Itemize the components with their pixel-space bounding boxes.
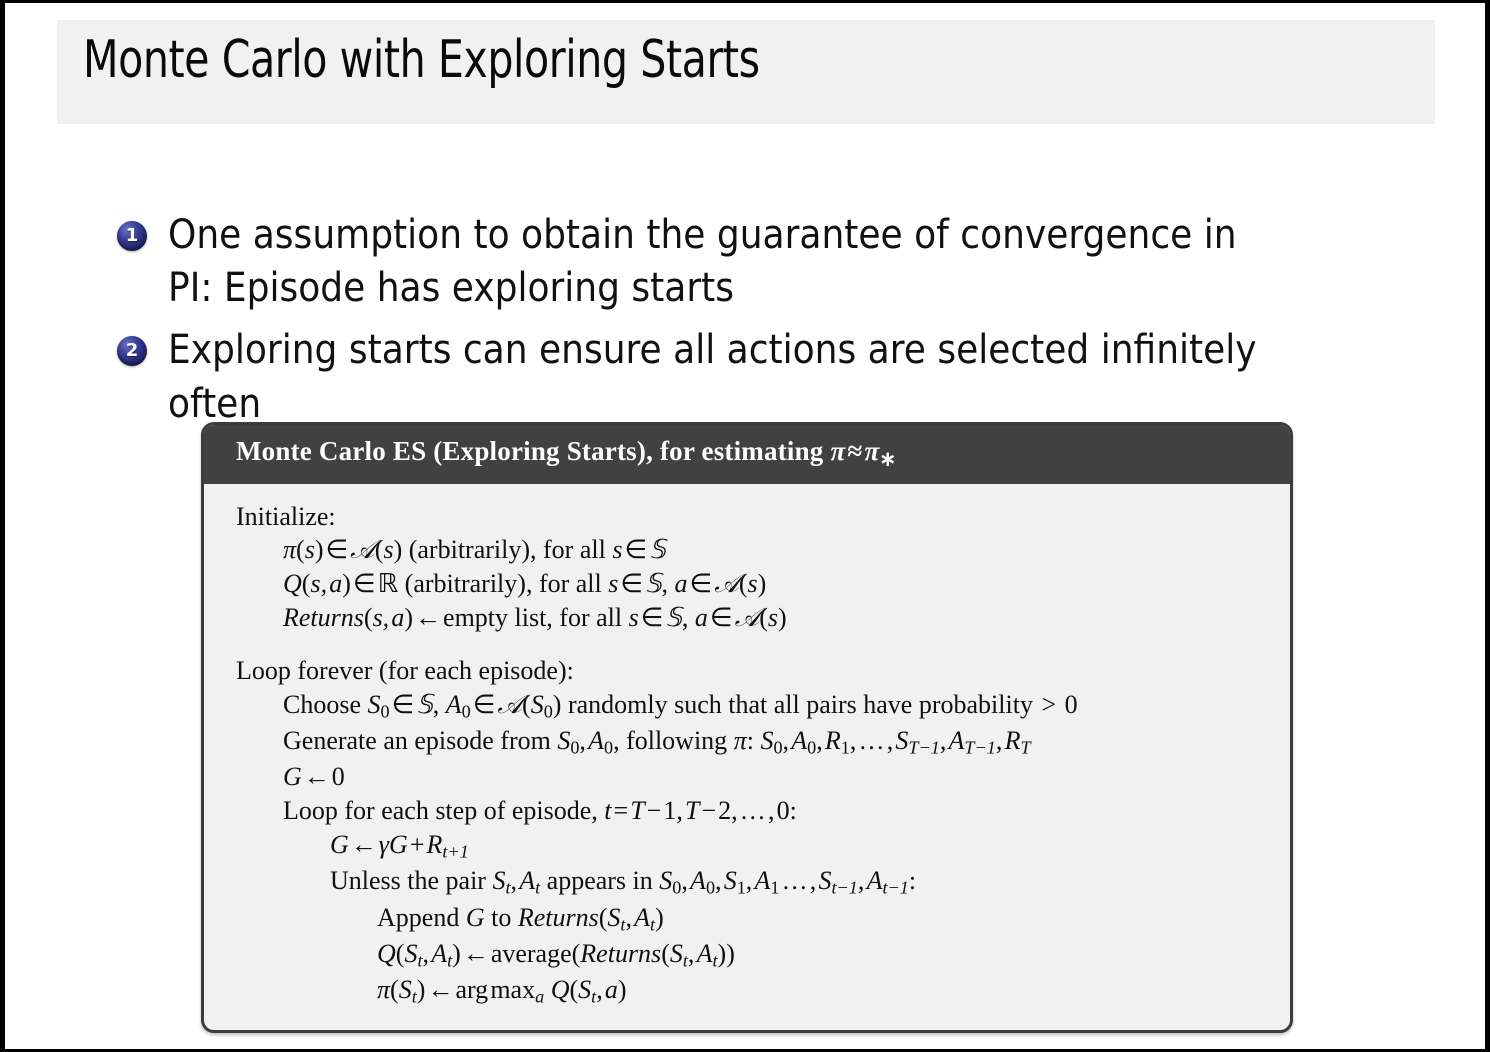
algo-line-unless-pair: Unless the pair St, At appears in S0, A0… — [236, 864, 1270, 900]
bullet-number-icon: 2 — [117, 336, 147, 366]
algo-line-append: Append G to Returns(St, At) — [236, 901, 1270, 937]
approx-symbol: ≈ — [845, 436, 864, 466]
bullet-text: One assumption to obtain the guarantee o… — [168, 209, 1292, 315]
bullet-list: 1 One assumption to obtain the guarantee… — [117, 209, 1417, 440]
algo-line-generate-episode: Generate an episode from S0, A0, followi… — [236, 724, 1270, 760]
list-item: 1 One assumption to obtain the guarantee… — [117, 209, 1417, 315]
algo-line-q-average: Q(St, At)←average(Returns(St, At)) — [236, 937, 1270, 973]
algo-line-text: Loop forever (for each episode): — [236, 656, 574, 685]
algo-line-init-pi: π(s)∈𝒜(s) (arbitrarily), for all s∈𝕊 — [236, 533, 1270, 567]
title-banner: Monte Carlo with Exploring Starts — [57, 20, 1435, 124]
page-title: Monte Carlo with Exploring Starts — [83, 30, 760, 90]
slide-frame: Monte Carlo with Exploring Starts 1 One … — [0, 0, 1490, 1052]
algorithm-body: Initialize: π(s)∈𝒜(s) (arbitrarily), for… — [204, 484, 1290, 1030]
algo-line-text: Initialize: — [236, 502, 336, 531]
algo-line-choose: Choose S0∈𝕊, A0∈𝒜(S0) randomly such that… — [236, 688, 1270, 724]
algo-line-init-q: Q(s, a)∈ℝ (arbitrarily), for all s∈𝕊, a∈… — [236, 567, 1270, 601]
bullet-text: Exploring starts can ensure all actions … — [168, 324, 1292, 430]
algo-line-pi-argmax: π(St)←arg maxa Q(St, a) — [236, 973, 1270, 1009]
algo-line-init-returns: Returns(s, a)←empty list, for all s∈𝕊, a… — [236, 601, 1270, 635]
algo-line-g-init: G←0 — [236, 760, 1270, 794]
algorithm-header-title: Monte Carlo ES (Exploring Starts), for e… — [236, 436, 824, 466]
algo-line-loop-forever: Loop forever (for each episode): — [236, 654, 1270, 688]
pi-symbol: π — [830, 436, 845, 466]
bullet-number-icon: 1 — [117, 221, 147, 251]
list-item: 2 Exploring starts can ensure all action… — [117, 324, 1417, 430]
algo-line-g-update: G←γG+Rt+1 — [236, 828, 1270, 864]
algo-line-initialize: Initialize: — [236, 500, 1270, 534]
algo-line-loop-step: Loop for each step of episode, t=T−1, T−… — [236, 794, 1270, 828]
algo-spacer — [236, 635, 1270, 654]
pi-star-subscript: ∗ — [879, 449, 896, 471]
algorithm-box: Monte Carlo ES (Exploring Starts), for e… — [201, 422, 1293, 1033]
pi-star-symbol: π — [864, 436, 879, 466]
algorithm-header: Monte Carlo ES (Exploring Starts), for e… — [204, 425, 1290, 484]
